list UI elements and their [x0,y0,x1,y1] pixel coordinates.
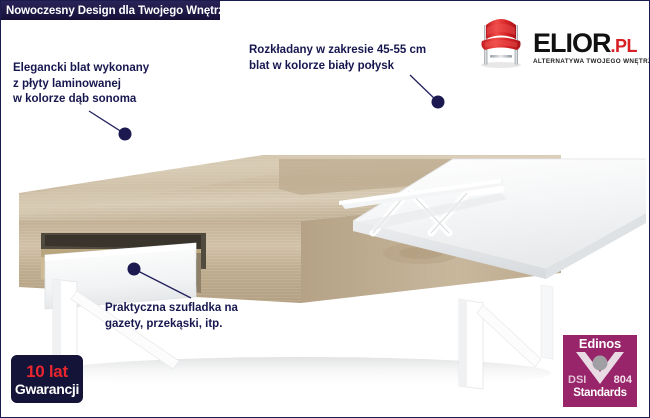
edinos-title: Edinos [579,337,621,351]
warranty-badge: 10 lat Gwarancji [11,355,83,403]
warranty-label: Gwarancji [15,382,79,396]
top-banner: Nowoczesny Design dla Twojego Wnętrza! [1,1,220,20]
warranty-years: 10 lat [26,363,68,380]
banner-text: Nowoczesny Design dla Twojego Wnętrza! [6,5,234,17]
edinos-subtitle: Standards [573,387,627,399]
edinos-standards-badge: Edinos DSI 804 Standards [563,335,637,407]
logo-tagline: ALTERNATYWA TWOJEGO WNĘTRZA [533,58,650,65]
edinos-code-left: DSI [568,374,586,386]
logo-text-block: ELIOR .PL ALTERNATYWA TWOJEGO WNĘTRZA [533,30,650,69]
edinos-code-right: 804 [614,374,632,386]
product-photo [1,73,650,391]
logo-brand-name: ELIOR [533,30,611,57]
logo-tld: .PL [611,37,638,55]
callout-text-drawer: Praktyczna szufladka na gazety, przekąsk… [105,301,238,332]
edinos-mark: DSI 804 [565,350,635,386]
callout-text-lift-top: Rozkładany w zakresie 45-55 cm blat w ko… [249,43,426,74]
brand-logo[interactable]: ELIOR .PL ALTERNATYWA TWOJEGO WNĘTRZA [473,7,641,69]
promo-image: Nowoczesny Design dla Twojego Wnętrza! [0,0,650,418]
callout-text-worktop: Elegancki blat wykonany z płyty laminowa… [13,61,149,108]
red-chair-icon [473,11,529,69]
